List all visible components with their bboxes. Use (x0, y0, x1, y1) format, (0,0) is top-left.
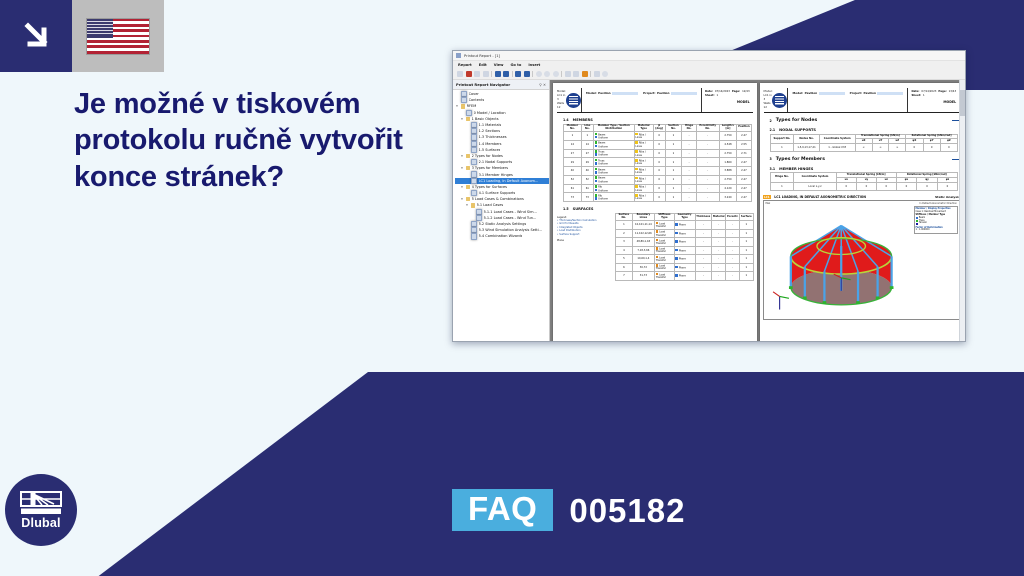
table-cell: Load Transfer (655, 238, 675, 246)
folder-icon (466, 185, 471, 189)
table-cell: - (696, 167, 719, 176)
page-icon (471, 141, 478, 147)
report-header-right: Model: LC1 in 3 Walls 12 Model: Pavilion (764, 88, 960, 113)
field-project-bar (671, 92, 697, 95)
table-cell: 40 (564, 167, 582, 176)
page-icon (471, 147, 478, 153)
table-cell: 2.71 (737, 149, 751, 158)
tree-toggle-icon[interactable]: ▾ (465, 203, 469, 207)
dlubal-logo: Dlubal (5, 474, 77, 546)
prev-page-icon[interactable] (503, 71, 509, 77)
table-row[interactable]: 348,89,1,18Load TransferPlane---1 (616, 238, 754, 246)
two-page-icon[interactable] (573, 71, 579, 77)
scrollbar-thumb[interactable] (960, 90, 965, 116)
table-cell: 0 (896, 182, 917, 190)
table-row[interactable]: 7373RibUniformRibs / Lines01--3.2402.47 (564, 193, 752, 202)
table-cell: 1 (616, 221, 633, 229)
table-cell: - (696, 193, 719, 202)
table-cell: 2.47 (737, 184, 751, 193)
navigator-controls[interactable]: ⚲ ✕ (539, 83, 546, 87)
legend-line: • Surface Support (557, 233, 609, 236)
table-cell: 1 - Global XYZ (819, 144, 855, 152)
table-cell: - (695, 272, 712, 280)
nodal-supports-table[interactable]: Support No.Nodes No.Coordinate SystemTra… (770, 134, 959, 152)
surfaces-table[interactable]: Surface No.Boundary LinesStiffness TypeG… (615, 213, 754, 281)
table-cell: 2.47 (737, 175, 751, 184)
language-flag-button[interactable] (72, 0, 164, 72)
printout-report-window[interactable]: Printout Report - [1] Report Edit View G… (452, 50, 966, 342)
tree-item-label: 5.2 Static Analysis Settings (479, 222, 527, 226)
model-word-right: MODEL (911, 100, 956, 104)
toolbar-separator (512, 71, 513, 77)
table-cell: - (712, 246, 726, 254)
section-nodal-supports: 2.1 NODAL SUPPORTS (770, 128, 960, 132)
table-cell: - (682, 149, 696, 158)
table-cell: Load Transfer (655, 229, 675, 237)
table-row[interactable]: 630,72Load TransferPlane---1 (616, 263, 754, 271)
navigator-title: Printout Report Navigator (456, 83, 510, 87)
selection-icon[interactable] (594, 71, 600, 77)
meta-sheet-right: Sheet: 1 (911, 94, 956, 97)
table-cell: Load Transfer (655, 255, 675, 263)
table-cell: 0 (923, 144, 940, 152)
section-types-for-nodes: 2 Types for Nodes (770, 118, 960, 123)
tree-item-label: 0 Model / Location (474, 111, 506, 115)
model-viewport[interactable]: Max In Default Axonometric Direction (763, 200, 961, 320)
document-area[interactable]: Model: LC1 in 3 Walls 12 Model: Pavilion (550, 80, 965, 342)
table-cell: 0 (653, 149, 665, 158)
table-cell: 48,89,1,18 (632, 238, 654, 246)
refresh-icon[interactable] (536, 71, 542, 77)
printout-report-navigator[interactable]: Printout Report Navigator ⚲ ✕ CoverConte… (453, 80, 550, 342)
page-icon (471, 134, 478, 140)
table-cell: 10,101,11,14 (632, 221, 654, 229)
folder-icon (466, 197, 471, 201)
tree-item-label: LC1 Loading, In Default Axonom... (479, 179, 539, 183)
table-row[interactable]: 11BeamUniformRibs / Lines01--2.7502.47 (564, 131, 752, 140)
page-icon (471, 190, 478, 196)
table-cell: - (695, 238, 712, 246)
meta-date: Date: 07/14/2023 Page: 12/43 (705, 90, 750, 93)
table-row[interactable]: 2727TrussUniformRibs / Lines01--2.7502.7… (564, 149, 752, 158)
table-cell: Ribs / Lines (634, 167, 653, 176)
table-cell: 1 (770, 144, 794, 152)
table-cell: 0 (940, 144, 957, 152)
zoom-in-icon[interactable] (544, 71, 550, 77)
table-cell: - (695, 246, 712, 254)
table-cell: - (726, 238, 740, 246)
menu-item-view[interactable]: View (494, 63, 504, 67)
table-cell: 1.860 (719, 158, 737, 167)
tree-toggle-icon[interactable]: ▾ (460, 154, 464, 158)
table-cell: ∞ (872, 144, 889, 152)
table-cell: 4.120 (719, 184, 737, 193)
zoom-out-icon[interactable] (553, 71, 559, 77)
member-hinges-table[interactable]: Hinge No.Coordinate SystemTranslational … (770, 172, 959, 190)
column-header: Material (712, 213, 726, 220)
table-cell: - (695, 221, 712, 229)
page-layout-icon[interactable] (565, 71, 571, 77)
column-header: Surface No. (616, 213, 633, 220)
table-cell: - (682, 184, 696, 193)
field-project-value: Pavilion (657, 91, 669, 95)
us-flag-icon (87, 19, 149, 54)
table-cell: 0 (653, 175, 665, 184)
table-cell: 30,72 (632, 263, 654, 271)
print-icon[interactable] (474, 71, 480, 77)
table-cell: ∞ (855, 144, 872, 152)
tree-item-label: 1.1 Materials (479, 123, 502, 127)
section2-title: SURFACES (573, 207, 594, 211)
table-cell: RibUniform (593, 193, 634, 202)
table-cell: - (696, 149, 719, 158)
section2-number: 1.5 (563, 207, 569, 211)
table-cell: 1 (740, 246, 753, 254)
tree-item[interactable]: 5.4 Combination Wizards (455, 233, 549, 239)
column-header: Line No. (581, 124, 593, 131)
column-header: Hinge No. (682, 124, 696, 131)
table-row[interactable]: 731,73Load TransferPlane---1 (616, 272, 754, 280)
table-cell: 7 (616, 272, 633, 280)
tree-item-label: 3.1 Member Hinges (479, 173, 513, 177)
table-cell: 1 (581, 131, 593, 140)
table-cell: 0 (876, 182, 896, 190)
table-cell: 29 (581, 158, 593, 167)
column-header: Thickness (695, 213, 712, 220)
analysis-type: Static Analysis (935, 195, 960, 199)
table-cell: 27 (564, 149, 582, 158)
page-icon (461, 97, 468, 103)
table-cell: 1 (665, 149, 682, 158)
column-header: Length L [m] (719, 124, 737, 131)
meta-sheet: Sheet: 1 (705, 94, 750, 97)
table-cell: 1 (665, 184, 682, 193)
table-cell: 4.548 (719, 140, 737, 149)
table-cell: 1 (665, 175, 682, 184)
section-types-for-members: 3 Types for Members (770, 157, 960, 162)
table-cell: 6 (616, 263, 633, 271)
table-cell: 0 (653, 131, 665, 140)
print-preview-icon[interactable] (483, 71, 489, 77)
column-header: Position (737, 124, 751, 131)
field-project-right: Project: Pavilion (850, 91, 904, 95)
tree-item-label: 2 Types for Nodes (472, 154, 503, 158)
table-cell: - (695, 255, 712, 263)
field-project-label: Project: (643, 91, 655, 95)
folder-icon (466, 166, 471, 170)
navy-bottom-shape (0, 372, 1024, 576)
table-cell: Local x,y,z (794, 182, 836, 190)
table-cell: - (712, 255, 726, 263)
table-cell: - (712, 272, 726, 280)
table-cell: Ribs / Lines (634, 149, 653, 158)
table-cell: 1 (665, 193, 682, 202)
table-cell: - (695, 263, 712, 271)
tree-item-label: 4.1 Surface Supports (479, 191, 516, 195)
table-cell: Plane (674, 272, 695, 280)
section-member-hinges: 3.1 MEMBER HINGES (770, 167, 960, 171)
table-cell: RibUniform (593, 184, 634, 193)
table-cell: - (682, 175, 696, 184)
dlubal-wordmark: Dlubal (21, 517, 60, 530)
table-cell: 73 (581, 193, 593, 202)
help-icon[interactable] (602, 71, 608, 77)
table-cell: Load Transfer (655, 221, 675, 229)
table-cell: 1 (740, 238, 753, 246)
menu-item-report[interactable]: Report (458, 63, 472, 67)
table-cell: 0 (906, 144, 923, 152)
table-cell: Ribs / Lines (634, 131, 653, 140)
table-cell: Plane (674, 221, 695, 229)
column-header: Hinge No. (770, 173, 794, 183)
viewport-legend: Member / Display Properties Case 1: Resi… (914, 206, 958, 234)
table-cell: Load Transfer (655, 246, 675, 254)
column-header: Section No. (665, 124, 682, 131)
toolbar-separator (491, 71, 492, 77)
tree-item-label: 5.1.1 Load Cases - Wind Sim... (484, 210, 537, 214)
table-cell: - (726, 255, 740, 263)
table-cell: - (695, 229, 712, 237)
tree-item-label: RFEM (467, 104, 477, 108)
header-meta-left: Date: 07/14/2023 Page: 12/43 Sheet: 1 MO… (702, 88, 753, 112)
table-cell: 1 (564, 131, 582, 140)
tree-toggle-icon[interactable]: ▾ (455, 104, 459, 108)
tree-toggle-icon[interactable]: ▾ (460, 166, 464, 170)
window-title-text: Printout Report - [1] (464, 54, 500, 58)
column-header: β [deg] (653, 124, 665, 131)
field-model-label: Model: (586, 91, 597, 95)
dlubal-truss-icon (20, 491, 62, 515)
new-icon[interactable] (457, 71, 463, 77)
column-header: Surface (740, 213, 753, 220)
table-cell: - (682, 167, 696, 176)
tree-item-label: 5.4 Combination Wizards (479, 234, 523, 238)
table-cell: Ribs / Lines (634, 158, 653, 167)
vertical-scrollbar[interactable] (959, 80, 965, 342)
collapse-dash-icon[interactable] (952, 120, 959, 122)
table-cell: 2.750 (719, 149, 737, 158)
table-cell: Load Transfer (655, 272, 675, 280)
table-cell: 1 (740, 229, 753, 237)
table-row[interactable]: 11,5,9,13,17,211 - Global XYZ∞∞∞000 (770, 144, 958, 152)
coordinate-axes-icon (773, 292, 789, 310)
tree-item-label: 1.4 Members (479, 142, 502, 146)
table-row[interactable]: 211,102,12,66Load TransferPlane---1 (616, 229, 754, 237)
table-cell: 1 (665, 140, 682, 149)
table-cell: TrussUniform (593, 158, 634, 167)
table-cell: - (696, 131, 719, 140)
tree-item-label: 5 Load Cases & Combinations (472, 197, 524, 201)
surfaces-legend: Legend:• Thickness/Section Calculation• … (557, 216, 609, 281)
tree-item-label: Cover (469, 92, 479, 96)
tree-toggle-icon[interactable]: ▾ (460, 185, 464, 189)
page-icon (476, 209, 483, 215)
table-row[interactable]: 4040BeamUniformRibs / Lines01--3.8882.47 (564, 167, 752, 176)
field-model-right: Model: Pavilion (792, 91, 844, 95)
table-cell: Ribs / Lines (634, 193, 653, 202)
tree-item-label: 5.3 Wind Simulation Analysis Setti... (479, 228, 542, 232)
tree-toggle-icon[interactable]: ▾ (460, 117, 464, 121)
table-cell: 0 (836, 182, 856, 190)
table-cell: 27 (581, 149, 593, 158)
table-row[interactable]: 110,101,11,14Load TransferPlane---1 (616, 221, 754, 229)
table-row[interactable]: 2929TrussUniformRibs / Lines01--1.8602.4… (564, 158, 752, 167)
table-cell: Ribs / Lines (634, 184, 653, 193)
plane-label: Plane (557, 239, 609, 242)
tree-item-label: 5.1 Load Cases (477, 203, 504, 207)
menu-bar[interactable]: Report Edit View Go to Insert (453, 61, 965, 69)
table-cell: 0 (917, 182, 938, 190)
table-cell: 10,69,1,4 (632, 255, 654, 263)
next-page-icon[interactable] (515, 71, 521, 77)
settings-icon[interactable] (582, 71, 588, 77)
load-case-bar: LC1 LC1 LOADING, IN DEFAULT AXONOMETRIC … (763, 195, 961, 200)
table-cell: ∞ (889, 144, 906, 152)
tree-item-label: 1.5 Surfaces (479, 148, 501, 152)
last-page-icon[interactable] (524, 71, 530, 77)
page-icon (471, 233, 478, 239)
members-table[interactable]: Member No.Line No.Member Type / Section … (563, 124, 752, 203)
table-cell: - (712, 238, 726, 246)
table-cell: BeamUniform (593, 140, 634, 149)
table-row[interactable]: 510,69,1,4Load TransferPlane---1 (616, 255, 754, 263)
table-cell: 0 (653, 184, 665, 193)
folder-icon (461, 104, 466, 108)
table-cell: 1 (665, 167, 682, 176)
menu-item-insert[interactable]: Insert (528, 63, 540, 67)
table-cell: - (726, 229, 740, 237)
window-body: Printout Report Navigator ⚲ ✕ CoverConte… (453, 80, 965, 342)
table-cell: 14 (564, 140, 582, 149)
menu-item-goto[interactable]: Go to (510, 63, 521, 67)
report-page-left[interactable]: Model: LC1 in 3 Walls 12 Model: Pavilion (553, 83, 757, 342)
table-cell: Load Transfer (655, 263, 675, 271)
section-members: 1.4 MEMBERS (563, 118, 753, 122)
load-case-tag: LC1 (763, 195, 772, 200)
table-row[interactable]: 6161RibUniformRibs / Lines01--4.1202.47 (564, 184, 752, 193)
column-header: Support No. (770, 134, 794, 144)
slide-root: Je možné v tiskovém protokolu ručně vytv… (0, 0, 1024, 576)
table-cell: 3.888 (719, 167, 737, 176)
table-cell: 52 (581, 175, 593, 184)
tree-item-label: 3 Types for Members (472, 166, 508, 170)
window-titlebar[interactable]: Printout Report - [1] (453, 51, 965, 61)
table-cell: 0 (937, 182, 957, 190)
table-cell: - (696, 175, 719, 184)
collapse-dash-icon[interactable] (952, 159, 959, 161)
table-row[interactable]: 1414BeamUniformRibs / Lines01--4.5482.55 (564, 140, 752, 149)
table-cell: 40 (581, 167, 593, 176)
tree-item-label: 1.3 Thicknesses (479, 135, 507, 139)
toolbar-separator (532, 71, 533, 77)
column-header: Geometry Type (674, 213, 695, 220)
table-cell: 3.240 (719, 193, 737, 202)
table-cell: 31,73 (632, 272, 654, 280)
column-header: Member No. (564, 124, 582, 131)
dlubal-report-logo-icon (566, 93, 581, 108)
tree-toggle-icon[interactable]: ▾ (460, 197, 464, 201)
column-header: Material Type (634, 124, 653, 131)
table-cell: 14 (581, 140, 593, 149)
folder-icon (471, 203, 476, 207)
table-cell: 0 (856, 182, 876, 190)
save-icon[interactable] (466, 71, 472, 77)
faq-number: 005182 (569, 494, 685, 527)
legend-row-tension: Tension (916, 222, 956, 225)
section-title: MEMBERS (573, 118, 593, 122)
toolbar[interactable] (453, 69, 965, 80)
header-fields: Model: Pavilion Project: Pavilion (582, 88, 702, 112)
menu-item-edit[interactable]: Edit (479, 63, 487, 67)
navigator-header: Printout Report Navigator ⚲ ✕ (453, 80, 549, 90)
model-caption-right: Model: LC1 in 3 Walls 12 (764, 88, 773, 112)
table-cell: - (726, 246, 740, 254)
field-model-bar (612, 92, 638, 95)
tree-item-label: 2.1 Nodal Supports (479, 160, 513, 164)
table-cell: TrussUniform (593, 149, 634, 158)
table-row[interactable]: 5252BeamUniformRibs / Lines01--2.7502.47 (564, 175, 752, 184)
table-cell: Plane (674, 229, 695, 237)
table-cell: 11,102,12,66 (632, 229, 654, 237)
table-cell: 73 (564, 193, 582, 202)
table-cell: 3 (616, 238, 633, 246)
table-cell: BeamUniform (593, 167, 634, 176)
app-icon (456, 53, 461, 58)
table-cell: - (726, 221, 740, 229)
table-cell: Plane (674, 238, 695, 246)
column-header: Coordinate System (819, 134, 855, 144)
tree-item-label: 1 Basic Objects (472, 117, 499, 121)
table-cell: Plane (674, 246, 695, 254)
faq-identifier: FAQ 005182 (452, 489, 685, 531)
toolbar-separator (590, 71, 591, 77)
table-cell: 52 (564, 175, 582, 184)
column-header: Nodes No. (794, 134, 819, 144)
table-cell: 7,18,3,66 (632, 246, 654, 254)
folder-icon (466, 117, 471, 121)
table-row[interactable]: 47,18,3,66Load TransferPlane---1 (616, 246, 754, 254)
section-number: 1.4 (563, 118, 569, 122)
table-cell: - (712, 263, 726, 271)
navigator-tree[interactable]: CoverContents▾RFEM0 Model / Location▾1 B… (453, 90, 549, 240)
table-cell: - (712, 221, 726, 229)
page-icon (471, 171, 478, 177)
field-model-value: Pavilion (598, 91, 610, 95)
field-project: Project: Pavilion (643, 91, 697, 95)
table-cell: - (726, 263, 740, 271)
folder-icon (466, 154, 471, 158)
table-cell: 1 (665, 158, 682, 167)
report-header-left: Model: LC1 in 3 Walls 12 Model: Pavilion (557, 88, 753, 113)
page-title: Je možné v tiskovém protokolu ručně vytv… (74, 86, 424, 195)
toolbar-separator (561, 71, 562, 77)
dlubal-report-logo-icon (772, 93, 787, 108)
table-cell: 0 (653, 158, 665, 167)
table-cell: - (696, 184, 719, 193)
table-cell: Ribs / Lines (634, 140, 653, 149)
table-cell: - (682, 140, 696, 149)
table-cell: 61 (564, 184, 582, 193)
header-fields-right: Model: Pavilion Project: Pavilion (788, 88, 908, 112)
table-cell: 2.47 (737, 193, 751, 202)
table-row[interactable]: 1Local x,y,z000000 (770, 182, 958, 190)
table-cell: 1 (665, 131, 682, 140)
report-logo-right (772, 88, 788, 112)
report-page-right[interactable]: Model: LC1 in 3 Walls 12 Model: Pavilion (760, 83, 964, 342)
table-cell: - (682, 131, 696, 140)
first-page-icon[interactable] (495, 71, 501, 77)
table-cell: 1 (740, 221, 753, 229)
